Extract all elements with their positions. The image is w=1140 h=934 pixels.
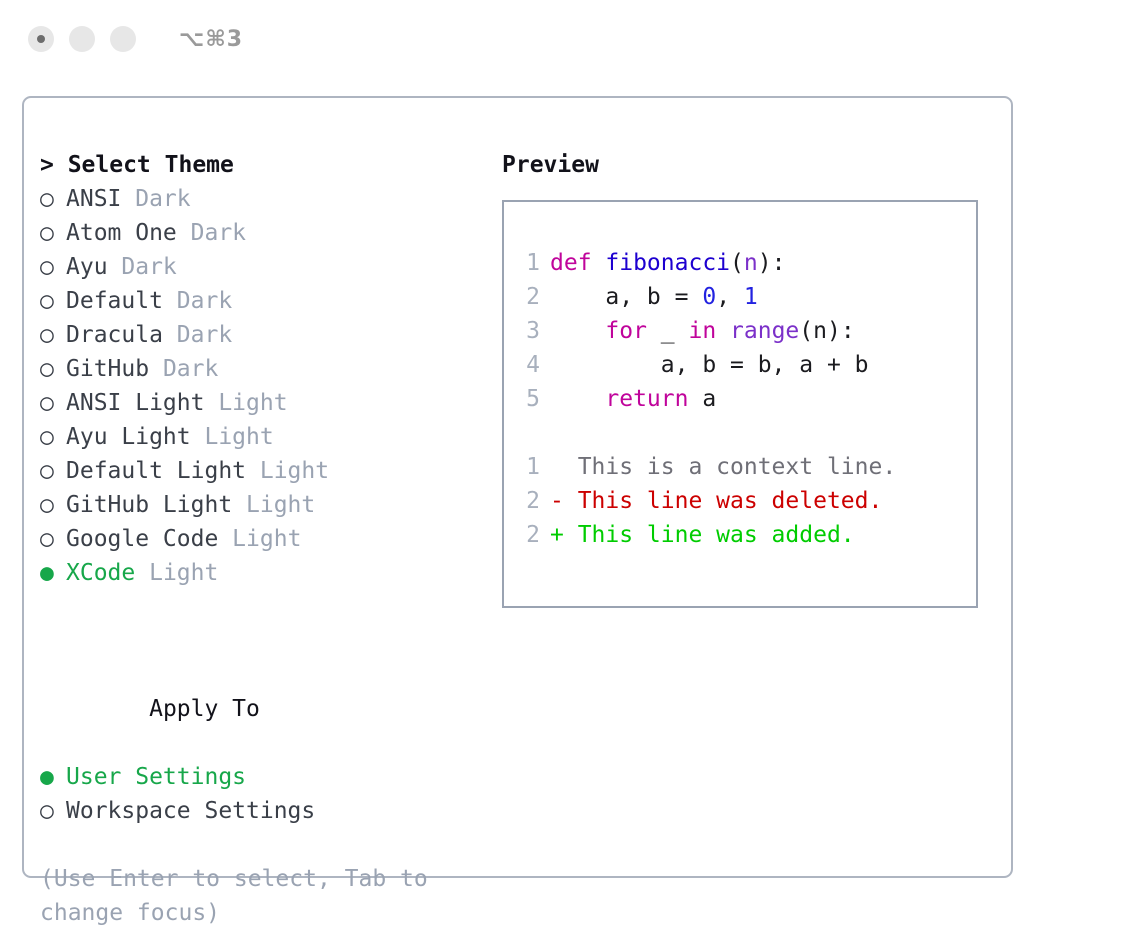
theme-option-name: Ayu Light — [66, 424, 191, 450]
radio-unselected-icon: ○ — [40, 420, 66, 454]
radio-selected-icon: ● — [40, 760, 66, 794]
code-token: fibonacci — [605, 250, 730, 276]
theme-option[interactable]: ○ANSI Dark — [40, 182, 490, 216]
code-token — [550, 386, 605, 412]
theme-option-variant: Light — [232, 492, 315, 518]
preview-title: Preview — [502, 148, 992, 182]
code-token: return — [605, 386, 688, 412]
code-token: range — [730, 318, 799, 344]
diff-line-text: This is a context line. — [550, 454, 896, 480]
code-token: a — [688, 386, 716, 412]
theme-option-variant: Dark — [163, 288, 232, 314]
diff-line: 1 This is a context line. — [514, 450, 976, 484]
apply-to-header-label: Apply To — [149, 696, 260, 722]
diff-line-text: - This line was deleted. — [550, 488, 882, 514]
code-line: 5 return a — [514, 382, 976, 416]
theme-option[interactable]: ○ANSI Light Light — [40, 386, 490, 420]
apply-to-header: Apply To — [40, 658, 490, 760]
theme-option-name: ANSI — [66, 186, 121, 212]
code-line: 4 a, b = b, a + b — [514, 348, 976, 382]
theme-option-name: Atom One — [66, 220, 177, 246]
preview-column: Preview 1def fibonacci(n):2 a, b = 0, 13… — [502, 148, 992, 608]
radio-unselected-icon: ○ — [40, 386, 66, 420]
theme-option-variant: Light — [135, 560, 218, 586]
apply-to-option-name: User Settings — [66, 764, 246, 790]
code-token: (n): — [799, 318, 854, 344]
code-token — [716, 318, 730, 344]
radio-unselected-icon: ○ — [40, 216, 66, 250]
radio-unselected-icon: ○ — [40, 488, 66, 522]
diff-line-number: 2 — [514, 484, 540, 518]
code-line: 1def fibonacci(n): — [514, 246, 976, 280]
preview-code-box: 1def fibonacci(n):2 a, b = 0, 13 for _ i… — [502, 200, 978, 608]
apply-to-option[interactable]: ○Workspace Settings — [40, 794, 490, 828]
theme-option[interactable]: ○Google Code Light — [40, 522, 490, 556]
theme-option[interactable]: ○Atom One Dark — [40, 216, 490, 250]
diff-sample: 1 This is a context line.2- This line wa… — [514, 450, 976, 552]
radio-unselected-icon: ○ — [40, 182, 66, 216]
diff-line: 2+ This line was added. — [514, 518, 976, 552]
window-titlebar: ⌥⌘3 — [0, 0, 1140, 78]
window-dot-3[interactable] — [110, 26, 136, 52]
code-line-number: 5 — [514, 382, 540, 416]
theme-selector-column: > Select Theme ○ANSI Dark○Atom One Dark○… — [40, 148, 490, 930]
theme-option[interactable]: ○GitHub Light Light — [40, 488, 490, 522]
theme-option-variant: Dark — [177, 220, 246, 246]
code-token: n — [744, 250, 758, 276]
code-line-number: 3 — [514, 314, 540, 348]
radio-unselected-icon: ○ — [40, 522, 66, 556]
radio-unselected-icon: ○ — [40, 318, 66, 352]
code-token: a, b = — [550, 284, 702, 310]
theme-option-variant: Dark — [108, 254, 177, 280]
theme-option-variant: Light — [204, 390, 287, 416]
theme-option[interactable]: ○Default Dark — [40, 284, 490, 318]
code-token: def — [550, 250, 605, 276]
apply-to-option-name: Workspace Settings — [66, 798, 315, 824]
theme-option-variant: Light — [191, 424, 274, 450]
select-theme-header: > Select Theme — [40, 148, 490, 182]
radio-unselected-icon: ○ — [40, 454, 66, 488]
code-token: 0 — [702, 284, 716, 310]
theme-option-name: GitHub — [66, 356, 149, 382]
code-sample: 1def fibonacci(n):2 a, b = 0, 13 for _ i… — [514, 246, 976, 416]
theme-option-name: Google Code — [66, 526, 218, 552]
code-token: for — [605, 318, 647, 344]
theme-option-list: ○ANSI Dark○Atom One Dark○Ayu Dark○Defaul… — [40, 182, 490, 590]
diff-line-number: 2 — [514, 518, 540, 552]
theme-option-variant: Dark — [163, 322, 232, 348]
theme-option-name: Default Light — [66, 458, 246, 484]
code-token: a, b = b, a + b — [550, 352, 869, 378]
theme-option-variant: Light — [246, 458, 329, 484]
theme-option-name: Dracula — [66, 322, 163, 348]
theme-option[interactable]: ○Ayu Light Light — [40, 420, 490, 454]
code-token: 1 — [744, 284, 758, 310]
code-token: ): — [758, 250, 786, 276]
window-dot-active[interactable] — [28, 26, 54, 52]
active-dot-indicator — [37, 35, 45, 43]
code-token — [550, 318, 605, 344]
apply-to-option[interactable]: ●User Settings — [40, 760, 490, 794]
window-dot-2[interactable] — [69, 26, 95, 52]
theme-option[interactable]: ●XCode Light — [40, 556, 490, 590]
theme-option[interactable]: ○GitHub Dark — [40, 352, 490, 386]
radio-unselected-icon: ○ — [40, 284, 66, 318]
theme-option-variant: Light — [218, 526, 301, 552]
theme-option-name: Default — [66, 288, 163, 314]
theme-option[interactable]: ○Ayu Dark — [40, 250, 490, 284]
code-diff-spacer — [514, 416, 976, 450]
theme-option-name: GitHub Light — [66, 492, 232, 518]
code-token: , — [716, 284, 744, 310]
code-token: ( — [730, 250, 744, 276]
diff-line: 2- This line was deleted. — [514, 484, 976, 518]
code-token: _ — [647, 318, 689, 344]
diff-line-text: + This line was added. — [550, 522, 855, 548]
theme-option[interactable]: ○Default Light Light — [40, 454, 490, 488]
radio-unselected-icon: ○ — [40, 794, 66, 828]
diff-line-number: 1 — [514, 450, 540, 484]
radio-unselected-icon: ○ — [40, 352, 66, 386]
code-line: 3 for _ in range(n): — [514, 314, 976, 348]
theme-option-variant: Dark — [149, 356, 218, 382]
code-line: 2 a, b = 0, 1 — [514, 280, 976, 314]
code-line-number: 4 — [514, 348, 540, 382]
code-token: in — [688, 318, 716, 344]
keyboard-hint-text: (Use Enter to select, Tab to change focu… — [40, 862, 440, 930]
code-line-number: 2 — [514, 280, 540, 314]
theme-option-name: XCode — [66, 560, 135, 586]
radio-unselected-icon: ○ — [40, 250, 66, 284]
apply-to-option-list: ●User Settings○Workspace Settings — [40, 760, 490, 828]
theme-option-variant: Dark — [121, 186, 190, 212]
hotkey-label: ⌥⌘3 — [179, 27, 243, 52]
radio-selected-icon: ● — [40, 556, 66, 590]
main-panel: > Select Theme ○ANSI Dark○Atom One Dark○… — [22, 96, 1013, 878]
theme-option[interactable]: ○Dracula Dark — [40, 318, 490, 352]
code-line-number: 1 — [514, 246, 540, 280]
theme-option-name: Ayu — [66, 254, 108, 280]
theme-option-name: ANSI Light — [66, 390, 204, 416]
